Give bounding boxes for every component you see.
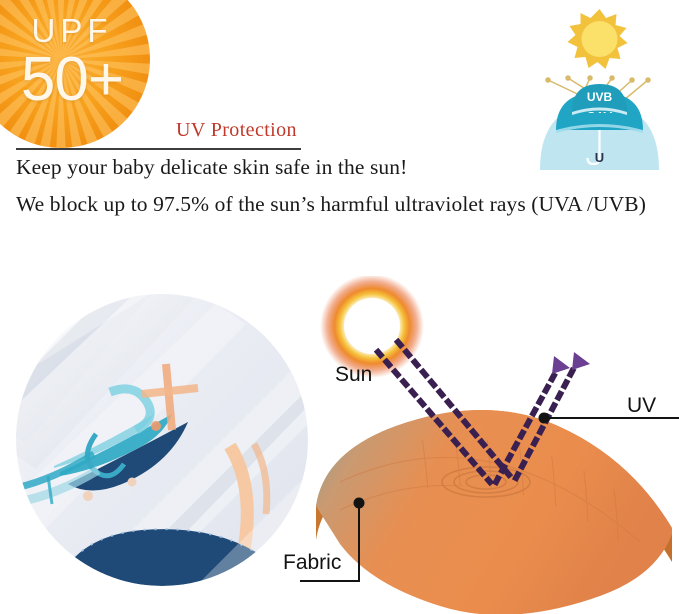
sun-icon: [568, 9, 628, 69]
uv-reflection-diagram: [300, 276, 679, 614]
fabric-surface: [316, 410, 672, 614]
uv-leader-line: [539, 413, 679, 424]
upf-label: UPF: [32, 14, 113, 47]
uv-umbrella-icon: U UVA UVB: [520, 0, 679, 180]
page-title: UV Protection: [176, 119, 297, 142]
tagline-primary: Keep your baby delicate skin safe in the…: [16, 155, 407, 180]
uv-layer-uvb: UVB: [572, 84, 627, 115]
uv-layer-uvb-label: UVB: [587, 90, 613, 104]
tagline-secondary: We block up to 97.5% of the sun’s harmfu…: [16, 192, 646, 217]
fabric-label: Fabric: [283, 551, 341, 575]
uv-layer-u-label: U: [595, 150, 604, 165]
uv-label: UV: [627, 394, 656, 418]
fabric-closeup-photo: [16, 294, 308, 586]
infographic-canvas: UPF 50+ UV Protection Keep your baby del…: [0, 0, 679, 614]
sun-label: Sun: [335, 363, 372, 387]
upf-badge-text: UPF 50+: [0, 0, 150, 148]
upf-badge: UPF 50+: [0, 0, 150, 148]
upf-value: 50+: [21, 49, 123, 111]
title-divider: [16, 148, 301, 150]
